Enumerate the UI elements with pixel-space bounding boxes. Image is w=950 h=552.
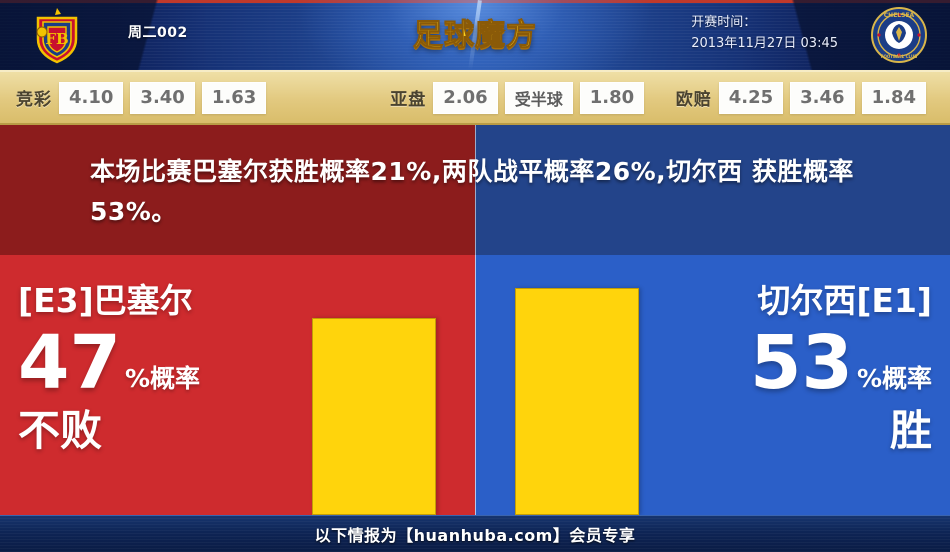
odds-bar: 竞彩 4.10 3.40 1.63 亚盘 2.06 受半球 1.80 欧赔 4.… — [0, 70, 950, 125]
odds-cell-handicap[interactable]: 受半球 — [505, 82, 573, 114]
summary-line-1: 本场比赛巴塞尔获胜概率21%,两队战平概率26%,切尔西 — [90, 157, 743, 186]
kickoff-info: 开赛时间： 2013年11月27日 03:45 — [691, 12, 838, 54]
odds-cell-draw[interactable]: 3.46 — [790, 82, 854, 114]
away-probability-bar — [515, 288, 639, 515]
header-top-rule — [0, 0, 950, 3]
home-team-crest-icon: FB — [28, 6, 86, 64]
home-verdict: 不败 — [18, 408, 308, 454]
site-logo: 足球魔方 — [413, 10, 537, 54]
home-probability-value: 47 — [18, 326, 121, 400]
odds-cell-draw[interactable]: 3.40 — [130, 82, 194, 114]
odds-cell-away[interactable]: 1.80 — [580, 82, 644, 114]
odds-group-european: 欧赔 4.25 3.46 1.84 — [676, 82, 926, 114]
svg-text:FB: FB — [45, 30, 68, 48]
odds-group-asian-handicap: 亚盘 2.06 受半球 1.80 — [390, 82, 644, 114]
summary-banner-text: 本场比赛巴塞尔获胜概率21%,两队战平概率26%,切尔西 获胜概率53%。 — [90, 152, 880, 232]
odds-cell-home[interactable]: 2.06 — [433, 82, 497, 114]
away-team-name: 切尔西[E1] — [642, 282, 932, 320]
svg-text:FOOTBALL CLUB: FOOTBALL CLUB — [881, 54, 918, 59]
odds-cell-away[interactable]: 1.63 — [202, 82, 266, 114]
svg-text:CHELSEA: CHELSEA — [884, 12, 915, 19]
away-probability-row: 53 %概率 — [642, 326, 932, 400]
away-probability-value: 53 — [750, 326, 853, 400]
panel-divider — [475, 255, 476, 515]
odds-group-jingcai: 竞彩 4.10 3.40 1.63 — [16, 82, 266, 114]
odds-cell-home[interactable]: 4.10 — [59, 82, 123, 114]
footer-text: 以下情报为【huanhuba.com】会员专享 — [315, 522, 636, 546]
odds-cell-away[interactable]: 1.84 — [862, 82, 926, 114]
away-team-crest-icon: CHELSEA FOOTBALL CLUB — [870, 6, 928, 64]
kickoff-datetime: 2013年11月27日 03:45 — [691, 33, 838, 54]
match-preview-graphic: FB 周二002 足球魔方 开赛时间： 2013年11月27日 03:45 C — [0, 0, 950, 552]
odds-group-label: 竞彩 — [16, 85, 52, 110]
home-probability-row: 47 %概率 — [18, 326, 308, 400]
kickoff-label: 开赛时间： — [691, 12, 838, 33]
away-probability-unit: %概率 — [853, 366, 932, 400]
odds-group-label: 欧赔 — [676, 85, 712, 110]
home-team-block: [E3]巴塞尔 47 %概率 不败 — [18, 282, 308, 454]
odds-cell-home[interactable]: 4.25 — [719, 82, 783, 114]
away-verdict: 胜 — [642, 408, 932, 454]
home-probability-unit: %概率 — [121, 366, 200, 400]
match-number-label: 周二002 — [128, 22, 188, 42]
home-probability-bar — [312, 318, 436, 515]
away-team-block: 切尔西[E1] 53 %概率 胜 — [642, 282, 932, 454]
home-team-name: [E3]巴塞尔 — [18, 282, 308, 320]
header: FB 周二002 足球魔方 开赛时间： 2013年11月27日 03:45 C — [0, 0, 950, 70]
odds-group-label: 亚盘 — [390, 85, 426, 110]
footer-bar: 以下情报为【huanhuba.com】会员专享 — [0, 515, 950, 552]
